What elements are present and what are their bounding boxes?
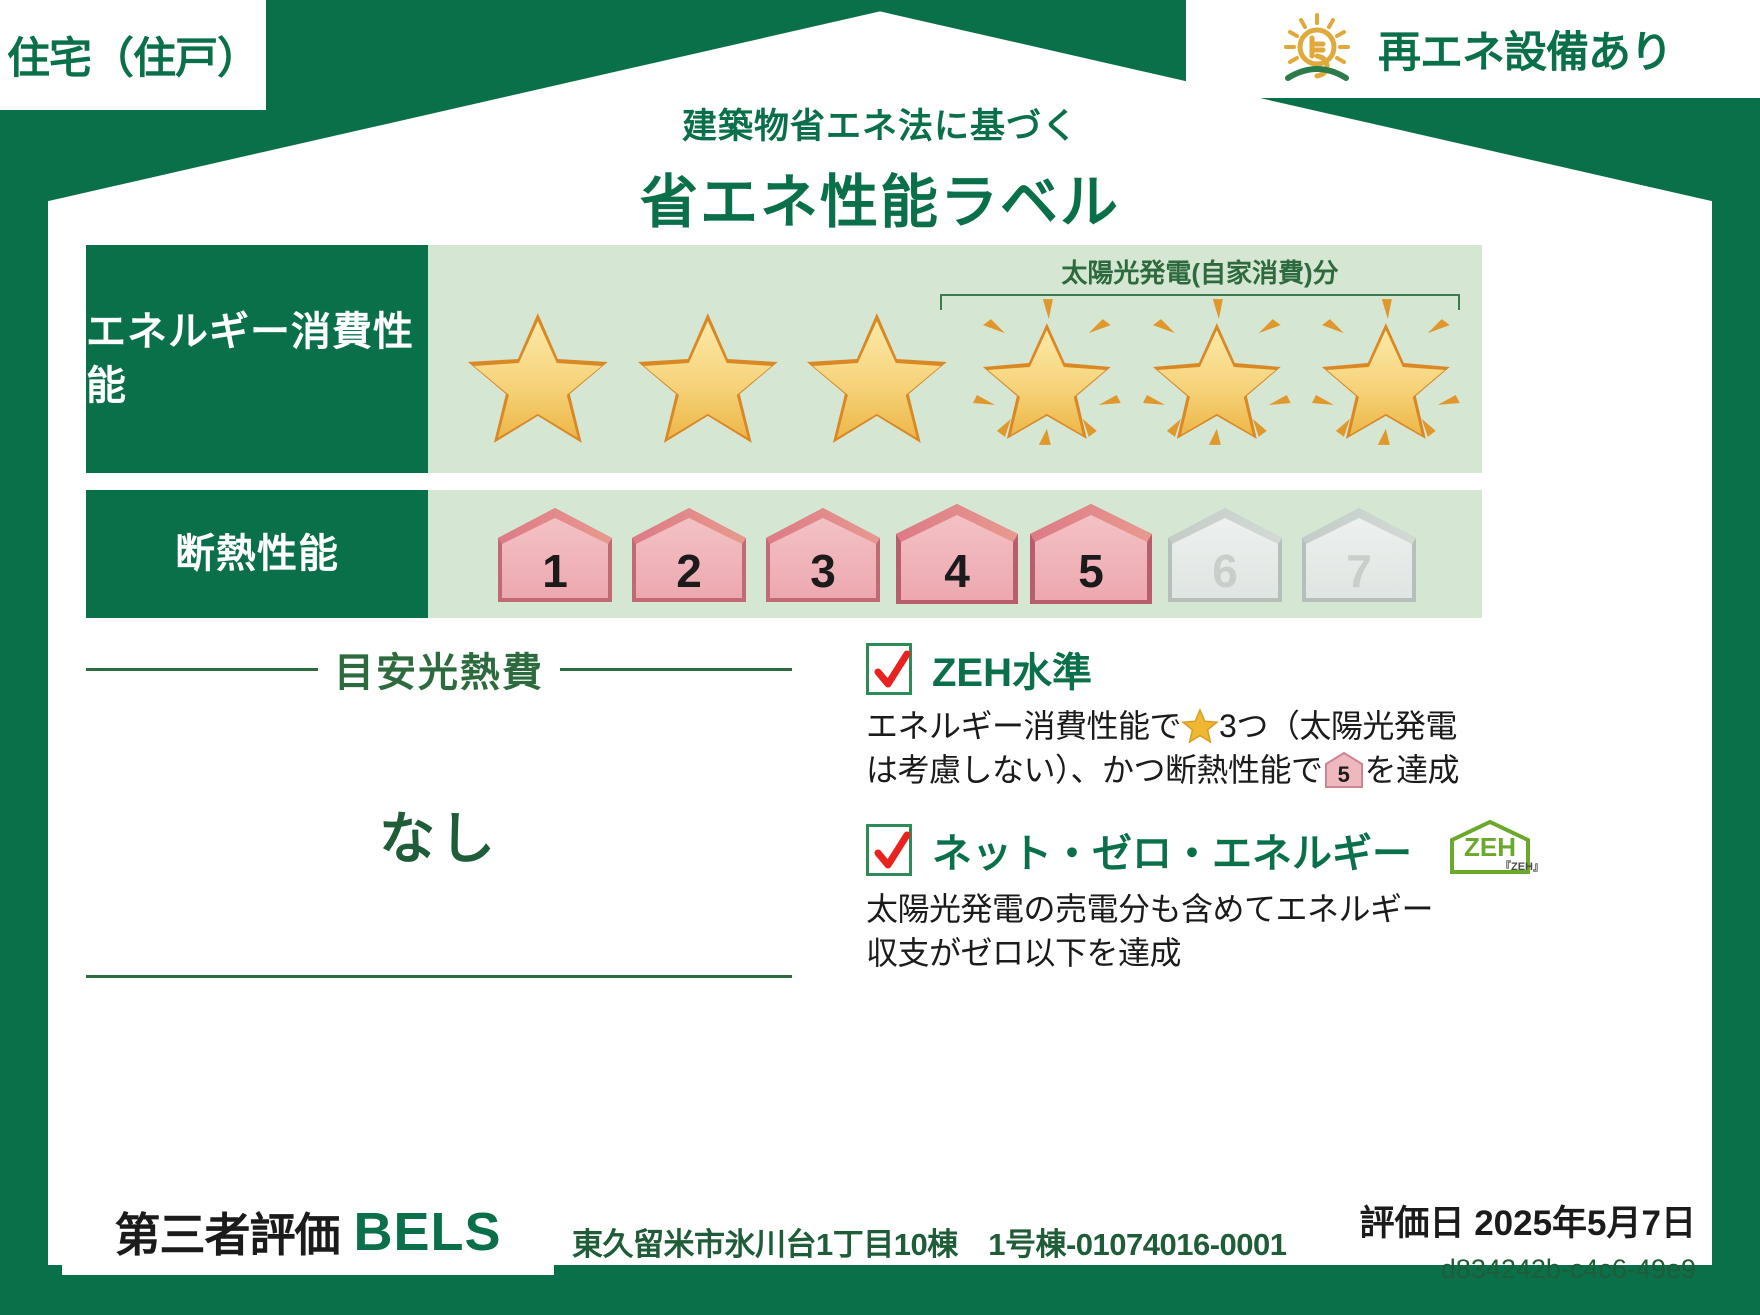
evaluation-date: 評価日 2025年5月7日 xyxy=(1359,1195,1696,1246)
star-icon-solar xyxy=(1304,297,1468,447)
renewable-equipment-badge: 再エネ設備あり xyxy=(1186,0,1760,98)
insulation-level-4: 4 xyxy=(892,502,1022,606)
zeh-desc-text-a: エネルギー消費性能で xyxy=(866,704,1181,748)
inline-star-icon xyxy=(1181,707,1219,745)
star-icon xyxy=(626,297,790,447)
bels-en-label: BELS xyxy=(353,1201,501,1263)
bels-jp-label: 第三者評価 xyxy=(114,1199,339,1265)
property-address: 東久留米市氷川台1丁目10棟 1号棟-01074016-0001 xyxy=(572,1219,1287,1264)
building-type-badge: 住宅（住戸） xyxy=(0,0,266,110)
insulation-level-number: 4 xyxy=(892,544,1022,598)
insulation-level-number: 6 xyxy=(1160,544,1290,598)
star-rating xyxy=(456,297,1468,447)
insulation-level-7: 7 xyxy=(1294,502,1424,606)
footer: 第三者評価 BELS 東久留米市氷川台1丁目10棟 1号棟-01074016-0… xyxy=(48,1183,1712,1291)
net-zero-description: 太陽光発電の売電分も含めてエネルギー 収支がゼロ以下を達成 xyxy=(866,887,1486,975)
inline-insulation-badge-icon: 5 xyxy=(1323,751,1365,789)
utility-cost-section: 目安光熱費 なし xyxy=(86,640,792,978)
zeh-level-description-line-2: は考慮しない）、かつ断熱性能で 5 を達成 xyxy=(866,748,1486,792)
net-zero-description-line-2: 収支がゼロ以下を達成 xyxy=(866,931,1486,975)
net-zero-heading: ネット・ゼロ・エネルギー ZEH 『ZEH』 xyxy=(866,818,1486,881)
zeh-logo-icon: ZEH 『ZEH』 xyxy=(1442,818,1554,881)
zeh-level-description: エネルギー消費性能で 3つ（太陽光発電 は考慮しない）、かつ断熱性能で 5 を達… xyxy=(866,704,1486,792)
renewable-equipment-label: 再エネ設備あり xyxy=(1378,18,1672,80)
evaluation-id: d834242b-c4c6-49e9 xyxy=(1359,1254,1696,1285)
evaluation-info: 評価日 2025年5月7日 d834242b-c4c6-49e9 xyxy=(1359,1195,1696,1285)
zeh-desc-text-b: 3つ（太陽光発電 xyxy=(1219,704,1457,748)
svg-text:『ZEH』: 『ZEH』 xyxy=(1500,859,1544,873)
insulation-performance-row: 断熱性能 xyxy=(86,490,1482,618)
net-zero-description-line-1: 太陽光発電の売電分も含めてエネルギー xyxy=(866,887,1486,931)
star-icon xyxy=(795,297,959,447)
zeh-desc-text-d: を達成 xyxy=(1365,748,1460,792)
bels-label-card: 住宅（住戸） 再エ xyxy=(0,0,1760,1315)
utility-cost-title: 目安光熱費 xyxy=(334,640,544,698)
star-icon-solar xyxy=(1135,297,1299,447)
star-icon xyxy=(456,297,620,447)
zeh-desc-text-c: は考慮しない）、かつ断熱性能で xyxy=(866,748,1323,792)
insulation-level-number: 3 xyxy=(758,544,888,598)
bels-badge: 第三者評価 BELS xyxy=(62,1189,554,1275)
insulation-level-6: 6 xyxy=(1160,502,1290,606)
star-icon-solar xyxy=(965,297,1129,447)
insulation-level-1: 1 xyxy=(490,502,620,606)
insulation-level-3: 3 xyxy=(758,502,888,606)
energy-performance-label: エネルギー消費性能 xyxy=(86,245,428,473)
energy-performance-value: 太陽光発電(自家消費)分 xyxy=(428,245,1482,473)
net-zero-title: ネット・ゼロ・エネルギー xyxy=(932,821,1412,879)
utility-cost-value: なし xyxy=(86,794,792,875)
zeh-level-heading: ZEH水準 xyxy=(866,640,1486,698)
net-zero-checkbox[interactable] xyxy=(866,824,912,876)
title-main: 省エネ性能ラベル xyxy=(0,155,1760,239)
insulation-level-5: 5 xyxy=(1026,502,1156,606)
insulation-performance-value: 1 2 3 xyxy=(428,490,1482,618)
insulation-level-number: 5 xyxy=(1026,544,1156,598)
insulation-level-number: 7 xyxy=(1294,544,1424,598)
zeh-level-checkbox[interactable] xyxy=(866,643,912,695)
insulation-level-number: 1 xyxy=(490,544,620,598)
insulation-level-2: 2 xyxy=(624,502,754,606)
inline-insulation-badge-number: 5 xyxy=(1323,760,1365,790)
insulation-level-scale: 1 2 3 xyxy=(428,490,1482,618)
utility-cost-bottom-rule xyxy=(86,975,792,978)
solar-renewable-icon xyxy=(1274,10,1360,89)
divider-left xyxy=(86,668,318,671)
page-title: 建築物省エネ法に基づく 省エネ性能ラベル xyxy=(0,98,1760,239)
certification-section: ZEH水準 エネルギー消費性能で 3つ（太陽光発電 は考慮しない）、かつ断熱性能… xyxy=(866,640,1486,976)
energy-performance-row: エネルギー消費性能 太陽光発電(自家消費)分 xyxy=(86,245,1482,473)
divider-right xyxy=(560,668,792,671)
svg-text:ZEH: ZEH xyxy=(1464,832,1516,862)
insulation-level-number: 2 xyxy=(624,544,754,598)
solar-annotation-label: 太陽光発電(自家消費)分 xyxy=(940,253,1460,290)
insulation-performance-label: 断熱性能 xyxy=(86,490,428,618)
utility-cost-heading: 目安光熱費 xyxy=(86,640,792,698)
zeh-level-description-line-1: エネルギー消費性能で 3つ（太陽光発電 xyxy=(866,704,1486,748)
title-subtitle: 建築物省エネ法に基づく xyxy=(0,98,1760,149)
zeh-level-title: ZEH水準 xyxy=(932,640,1092,698)
building-type-label: 住宅（住戸） xyxy=(7,24,259,86)
